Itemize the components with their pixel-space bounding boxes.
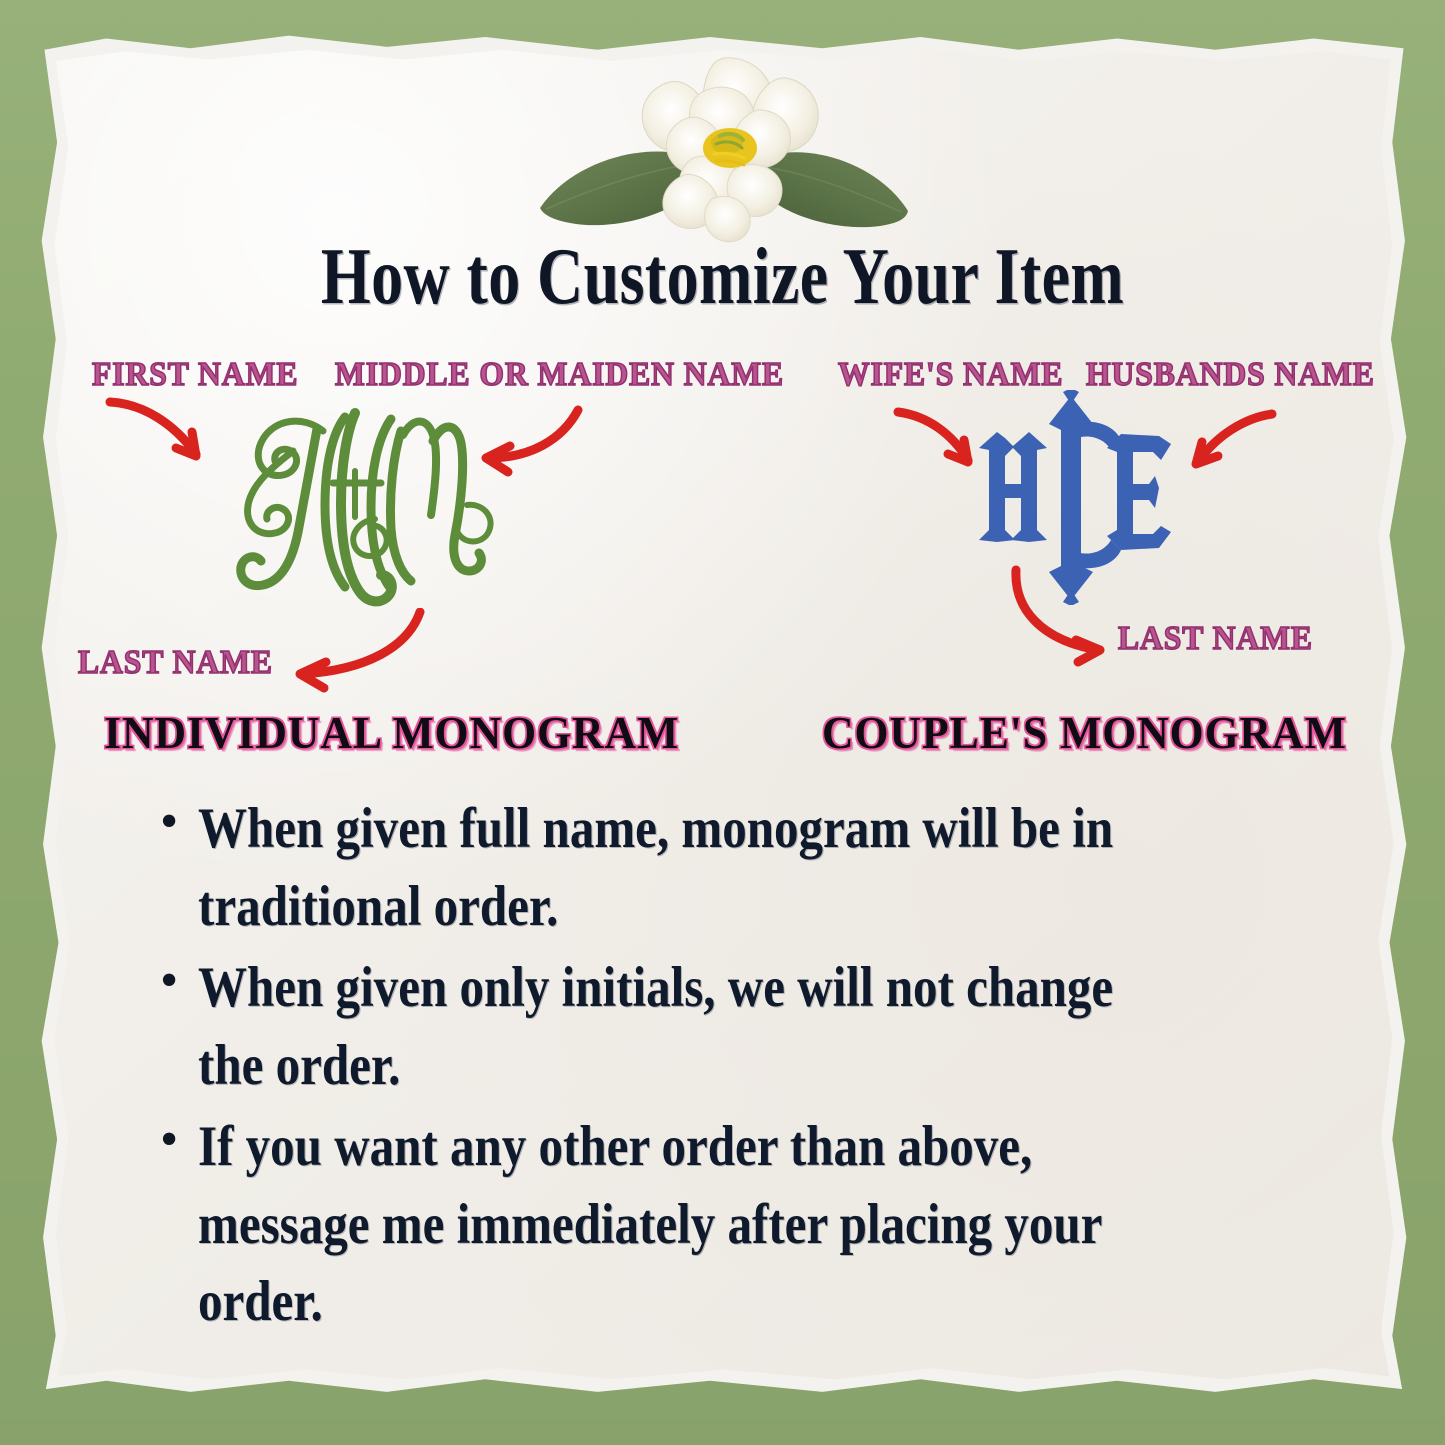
instructions-list: • When given full name, monogram will be…: [160, 790, 1340, 1345]
list-item: • When given only initials, we will not …: [160, 949, 1340, 1104]
callout-husbands-name: HUSBANDS NAME: [1086, 358, 1375, 392]
callout-wifes-name: WIFE'S NAME: [838, 358, 1063, 392]
bullet-marker-icon: •: [160, 947, 198, 1016]
poster-canvas: How to Customize Your Item FIRST NAME MI…: [0, 0, 1445, 1445]
bullet-marker-icon: •: [160, 788, 198, 857]
heading-couple-monogram: COUPLE'S MONOGRAM: [822, 710, 1347, 756]
couple-monogram-graphic: ACE: [945, 390, 1195, 605]
instruction-text: When given full name, monogram will be i…: [198, 790, 1180, 945]
callout-middle-name: MIDDLE OR MAIDEN NAME: [335, 358, 784, 392]
magnolia-flower-icon: [524, 48, 924, 243]
list-item: • When given full name, monogram will be…: [160, 790, 1340, 945]
callout-first-name: FIRST NAME: [92, 358, 298, 392]
bullet-marker-icon: •: [160, 1106, 198, 1175]
instruction-text: When given only initials, we will not ch…: [198, 949, 1180, 1104]
instruction-text: If you want any other order than above, …: [198, 1108, 1180, 1341]
callout-last-name-left: LAST NAME: [78, 646, 273, 680]
flower-center: [703, 128, 757, 168]
callout-last-name-right: LAST NAME: [1118, 622, 1313, 656]
arrow-to-last-initial-left-icon: [268, 608, 438, 698]
heading-individual-monogram: INDIVIDUAL MONOGRAM: [104, 710, 679, 756]
individual-monogram-graphic: JHM: [205, 395, 505, 610]
list-item: • If you want any other order than above…: [160, 1108, 1340, 1341]
page-title: How to Customize Your Item: [145, 237, 1301, 317]
